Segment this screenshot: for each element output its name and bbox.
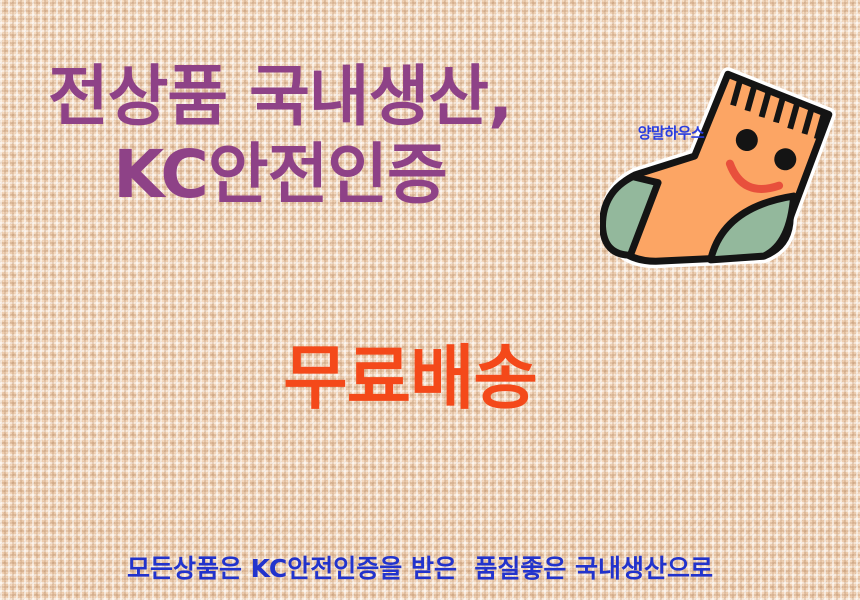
- promo-banner: 전상품 국내생산, KC안전인증 무료배송 모든상품은 KC안전인증을 받은 품…: [0, 0, 860, 600]
- headline-line-1: 전상품 국내생산,: [48, 58, 512, 135]
- disclaimer-text: 모든상품은 KC안전인증을 받은 품질좋은 국내생산으로 중국산은 취급하지 않…: [0, 472, 840, 600]
- free-shipping-text: 무료배송: [0, 322, 820, 423]
- page-title: 전상품 국내생산, KC안전인증: [0, 62, 560, 210]
- brand-name-label: 양말하우스: [617, 122, 725, 143]
- disclaimer-line-1: 모든상품은 KC안전인증을 받은 품질좋은 국내생산으로: [0, 550, 840, 589]
- smiling-sock-icon: [600, 58, 860, 294]
- headline-line-2: KC안전인증: [0, 140, 560, 210]
